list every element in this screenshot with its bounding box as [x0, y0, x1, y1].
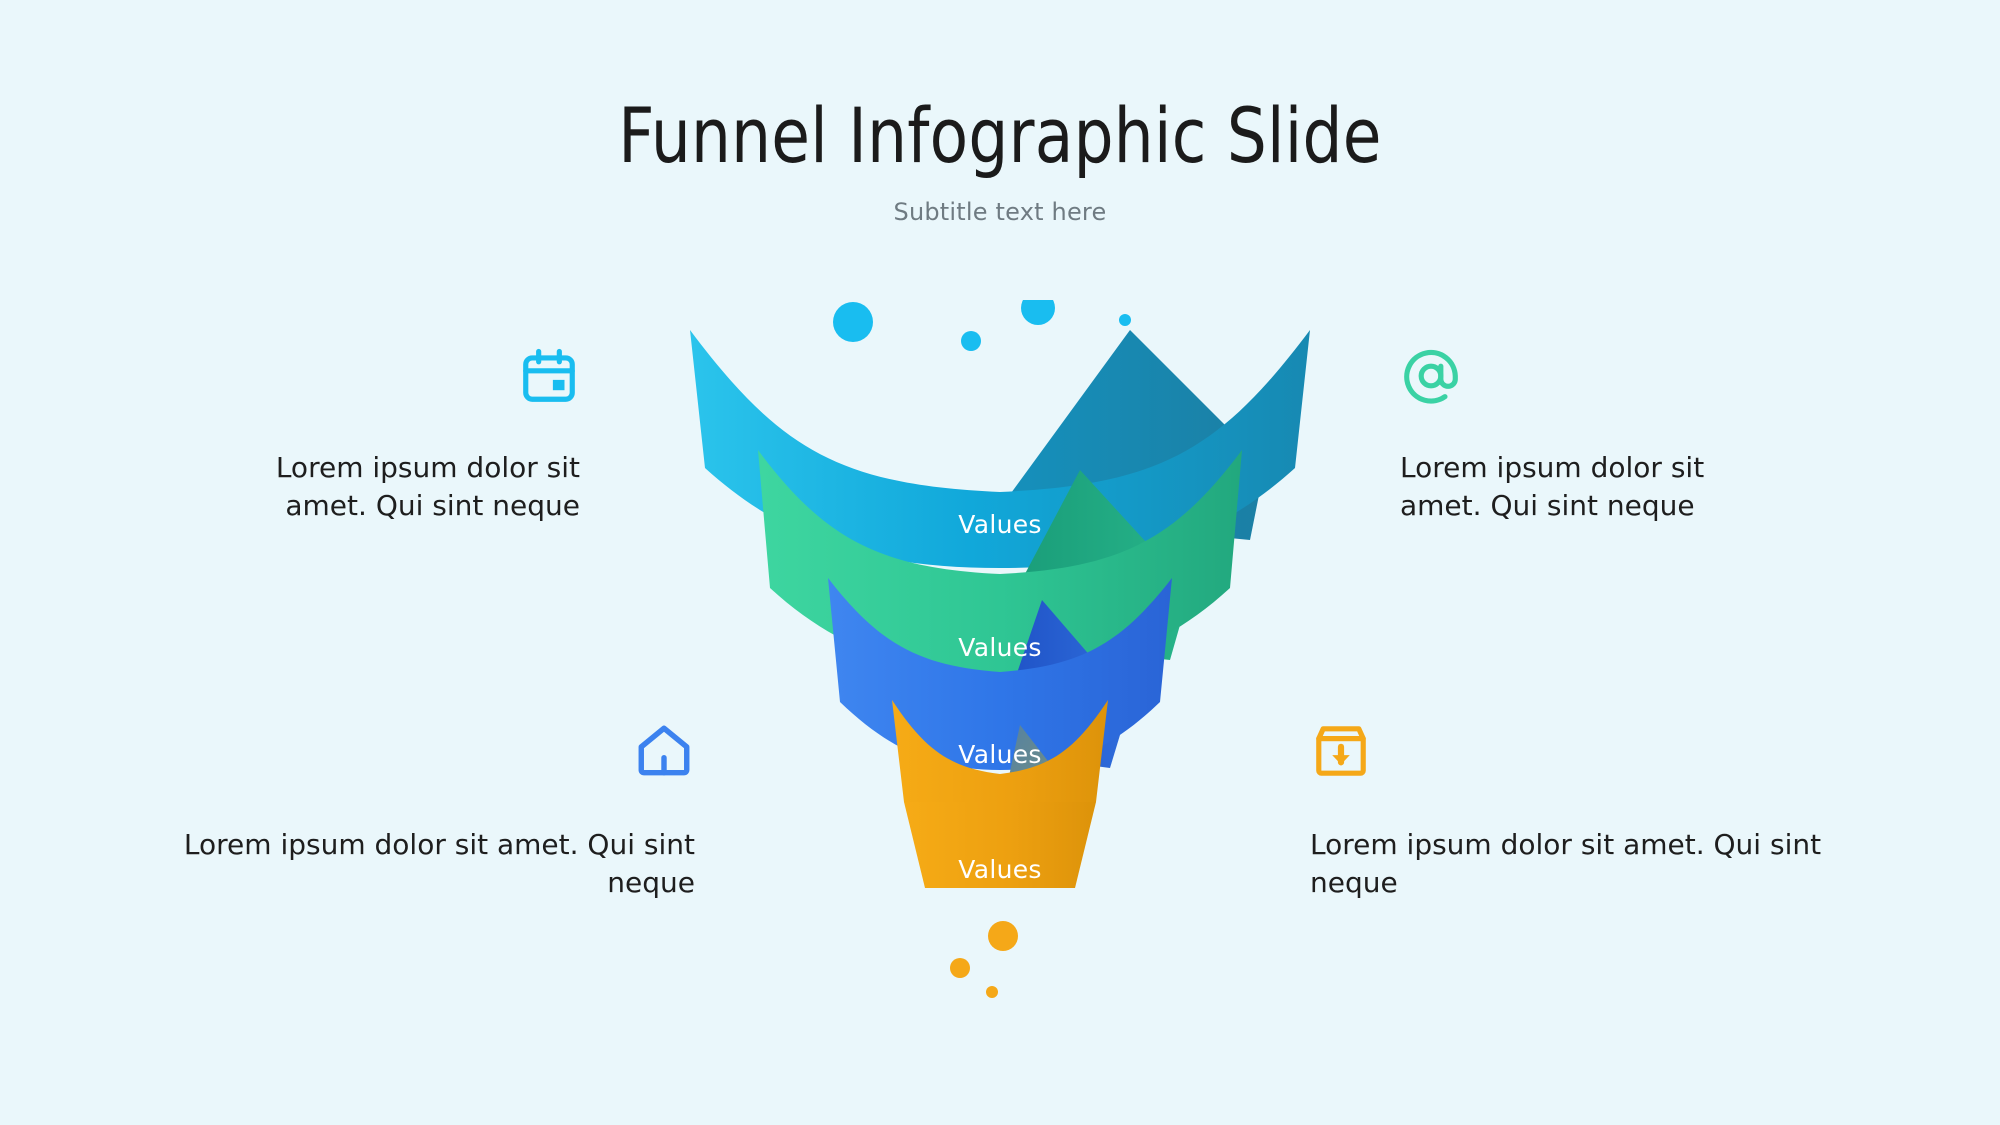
callout-bottom-right-text: Lorem ipsum dolor sit amet. Qui sint neq…: [1310, 826, 1865, 902]
callout-top-right: Lorem ipsum dolor sit amet. Qui sint neq…: [1400, 345, 1760, 525]
funnel-top-bubbles: [795, 300, 1131, 351]
callout-top-right-text: Lorem ipsum dolor sit amet. Qui sint neq…: [1400, 449, 1760, 525]
callout-top-left: Lorem ipsum dolor sit amet. Qui sint neq…: [220, 345, 580, 525]
funnel-bottom-bubbles: [950, 921, 1018, 998]
slide-root: Funnel Infographic Slide Subtitle text h…: [0, 0, 2000, 1125]
callout-bottom-right: Lorem ipsum dolor sit amet. Qui sint neq…: [1310, 720, 1865, 902]
callout-top-left-text: Lorem ipsum dolor sit amet. Qui sint neq…: [220, 449, 580, 525]
page-subtitle: Subtitle text here: [0, 198, 2000, 226]
callout-bottom-left: Lorem ipsum dolor sit amet. Qui sint neq…: [140, 720, 695, 902]
archive-icon: [1310, 720, 1865, 782]
slide-header: Funnel Infographic Slide Subtitle text h…: [0, 96, 2000, 226]
calendar-icon: [220, 345, 580, 407]
callout-bottom-left-text: Lorem ipsum dolor sit amet. Qui sint neq…: [140, 826, 695, 902]
at-sign-icon: [1400, 345, 1760, 407]
page-title: Funnel Infographic Slide: [80, 96, 1920, 176]
home-icon: [140, 720, 695, 782]
funnel-chart: Values Values Values Values: [690, 300, 1310, 1020]
